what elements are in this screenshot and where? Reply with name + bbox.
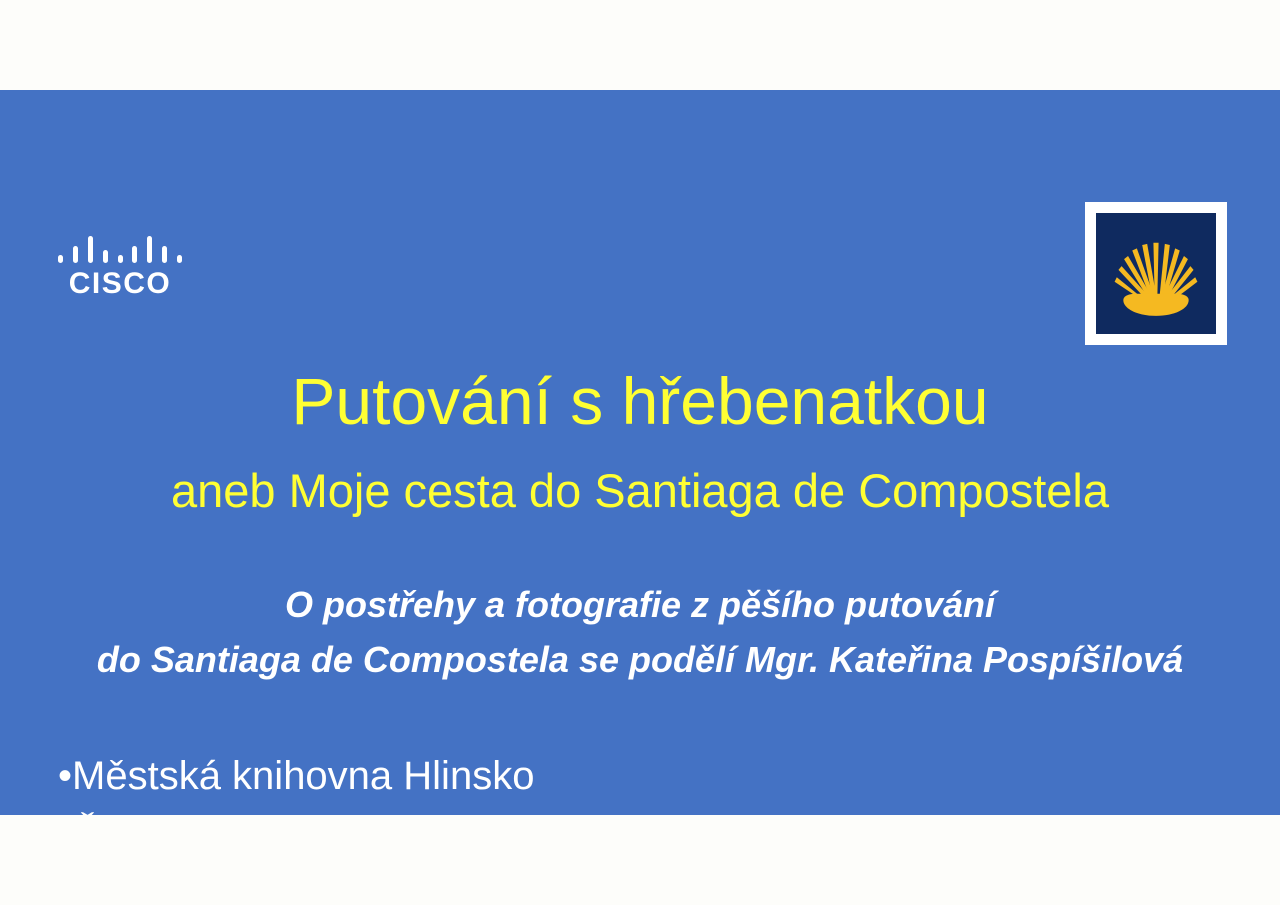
description-line-1: O postřehy a fotografie z pěšího putován… (0, 578, 1280, 633)
list-item: •Čtvrtek 9. března 2023 v 17:00 h (58, 805, 652, 815)
shell-panel (1096, 213, 1216, 334)
description-line-2: do Santiaga de Compostela se podělí Mgr.… (0, 633, 1280, 688)
cisco-bridge-icon (58, 235, 182, 263)
list-item-label: Čtvrtek 9. března 2023 v 17:00 h (72, 812, 652, 815)
scallop-shell-icon (1110, 228, 1202, 320)
bullet-icon: • (58, 754, 72, 798)
list-item: •Městská knihovna Hlinsko (58, 747, 652, 805)
event-poster-slide: CISCO (0, 90, 1280, 815)
details-bullet-list: •Městská knihovna Hlinsko •Čtvrtek 9. bř… (58, 747, 652, 815)
bullet-icon: • (58, 812, 72, 815)
list-item-label: Městská knihovna Hlinsko (72, 754, 534, 798)
camino-shell-emblem (1085, 202, 1227, 345)
slide-page: CISCO (0, 0, 1280, 905)
description-block: O postřehy a fotografie z pěšího putován… (0, 578, 1280, 687)
cisco-wordmark: CISCO (58, 269, 182, 299)
page-subtitle: aneb Moje cesta do Santiaga de Compostel… (0, 467, 1280, 514)
cisco-logo: CISCO (58, 235, 186, 299)
page-title: Putování s hřebenatkou (0, 368, 1280, 434)
